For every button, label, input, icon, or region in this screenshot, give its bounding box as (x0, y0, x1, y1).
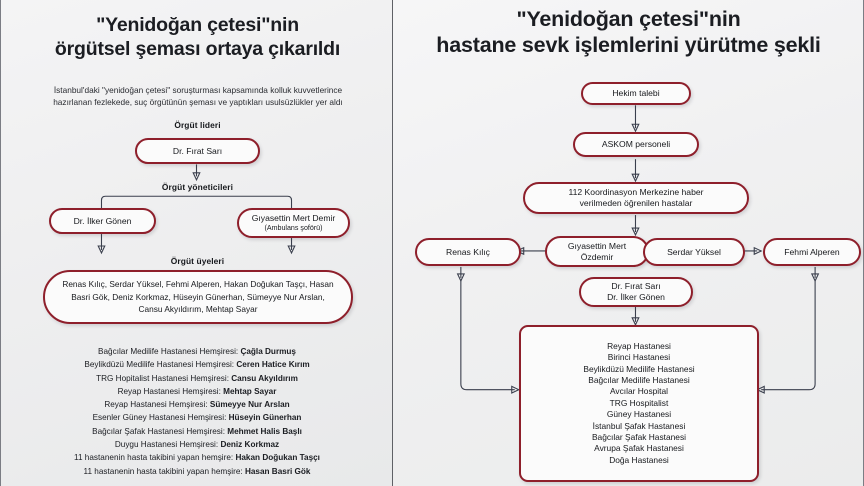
subtitle-left: İstanbul'daki "yenidoğan çetesi" soruştu… (35, 84, 361, 109)
infographic-root: "Yenidoğan çetesi"nin örgütsel şeması or… (0, 0, 864, 486)
nurse-list-item: Esenler Güney Hastanesi Hemşiresi: Hüsey… (17, 411, 377, 424)
wire-fehmi-to-hospitals (761, 281, 815, 390)
arrowhead-renas-down (458, 274, 465, 281)
arrowhead-fehmi (754, 248, 761, 255)
node-step-hekim-talebi: Hekim talebi (581, 82, 691, 105)
page-title-left: "Yenidoğan çetesi"nin örgütsel şeması or… (21, 14, 374, 62)
nurse-name: Ceren Hatice Kırım (236, 360, 309, 369)
node-step-askom: ASKOM personeli (573, 132, 699, 157)
node-org-members: Renas Kılıç, Serdar Yüksel, Fehmi Alpere… (43, 270, 353, 324)
nurse-list-item: TRG Hopitalist Hastanesi Hemşiresi: Cans… (17, 372, 377, 385)
title-right-line1: "Yenidoğan çetesi"nin (401, 6, 856, 32)
label-org-members: Örgüt üyeleri (144, 256, 251, 266)
nurse-role: Reyap Hastanesi Hemşiresi: (104, 400, 210, 409)
nurse-name: Hüseyin Günerhan (229, 413, 302, 422)
node-manager-2-name: Gıyasettin Mert Demir (252, 213, 336, 224)
hospital-list-item: Güney Hastanesi (583, 409, 694, 420)
node-row-3-line1: Fehmi Alperen (784, 247, 839, 258)
node-org-members-text: Renas Kılıç, Serdar Yüksel, Fehmi Alpere… (45, 278, 351, 315)
node-org-leader: Dr. Fırat Sarı (135, 138, 260, 164)
nurse-name: Mehmet Halis Başlı (227, 427, 302, 436)
node-step1-label: Hekim talebi (612, 88, 659, 99)
node-doctors-firat-ilker: Dr. Fırat Sarı Dr. İlker Gönen (579, 277, 693, 307)
nurse-role: TRG Hopitalist Hastanesi Hemşiresi: (96, 374, 231, 383)
node-row-2-line1: Serdar Yüksel (667, 247, 721, 258)
nurse-name: Çağla Durmuş (240, 347, 296, 356)
panel-org-chart: "Yenidoğan çetesi"nin örgütsel şeması or… (0, 0, 393, 486)
label-org-managers: Örgüt yöneticileri (144, 182, 251, 192)
node-row-1-line1: Gıyasettin Mert (568, 241, 626, 252)
node-person-giyasettin-mert-ozdemir: Gıyasettin Mert Özdemir (545, 236, 649, 267)
nurse-name: Cansu Akyıldırım (231, 374, 298, 383)
node-step2-label: ASKOM personeli (602, 139, 670, 150)
hospital-list-item: Doğa Hastanesi (583, 455, 694, 466)
nurse-list-item: Duygu Hastanesi Hemşiresi: Deniz Korkmaz (17, 438, 377, 451)
hospital-list-item: Birinci Hastanesi (583, 352, 694, 363)
node-row-0-line1: Renas Kılıç (446, 247, 490, 258)
title-left-line1: "Yenidoğan çetesi"nin (21, 14, 374, 38)
nurse-list-item: 11 hastanenin hasta takibini yapan hemşi… (17, 465, 377, 478)
arrowhead-mgr2 (288, 246, 295, 253)
nurse-role: Reyap Hastanesi Hemşiresi: (118, 387, 224, 396)
wire-renas-to-hospitals (461, 281, 515, 390)
nurse-list-item: Beylikdüzü Medilife Hastanesi Hemşiresi:… (17, 358, 377, 371)
node-manager-1-name: Dr. İlker Gönen (74, 216, 132, 227)
nurse-assignment-list: Bağcılar Medilife Hastanesi Hemşiresi: Ç… (17, 345, 377, 478)
node-step-112-koordinasyon: 112 Koordinasyon Merkezine haber verilme… (523, 182, 749, 214)
node-doctors-line1: Dr. Fırat Sarı (611, 281, 660, 292)
label-org-leader: Örgüt lideri (144, 120, 251, 130)
hospital-list-item: Avcılar Hospital (583, 386, 694, 397)
arrowhead-row (632, 228, 639, 235)
nurse-list-item: 11 hastanenin hasta takibini yapan hemşi… (17, 451, 377, 464)
hospital-list-item: Avrupa Şafak Hastanesi (583, 443, 694, 454)
nurse-name: Hasan Basri Gök (245, 467, 311, 476)
node-hospital-list: Reyap HastanesiBirinci HastanesiBeylikdü… (519, 325, 759, 482)
arrowhead-fehmi-down (812, 274, 819, 281)
page-title-right: "Yenidoğan çetesi"nin hastane sevk işlem… (401, 6, 856, 58)
nurse-name: Hakan Doğukan Taşçı (235, 453, 319, 462)
arrowhead-hosp-left (512, 386, 519, 393)
nurse-name: Sümeyye Nur Arslan (210, 400, 290, 409)
arrowhead-mgr1 (98, 246, 105, 253)
hospital-list-item: TRG Hospitalist (583, 398, 694, 409)
hospital-list-item: Beylikdüzü Medilife Hastanesi (583, 364, 694, 375)
nurse-role: 11 hastanenin hasta takibini yapan hemşi… (74, 453, 235, 462)
nurse-list-item: Reyap Hastanesi Hemşiresi: Mehtap Sayar (17, 385, 377, 398)
node-manager-1: Dr. İlker Gönen (49, 208, 156, 234)
node-manager-2: Gıyasettin Mert Demir (Ambulans şoförü) (237, 208, 350, 238)
panel-referral-flow: "Yenidoğan çetesi"nin hastane sevk işlem… (393, 0, 864, 486)
node-person-renas-kilic: Renas Kılıç (415, 238, 521, 266)
hospital-list-item: İstanbul Şafak Hastanesi (583, 421, 694, 432)
node-doctors-line2: Dr. İlker Gönen (607, 292, 665, 303)
title-left-line2: örgütsel şeması ortaya çıkarıldı (21, 38, 374, 62)
node-row-1-line2: Özdemir (581, 252, 613, 263)
nurse-name: Deniz Korkmaz (220, 440, 279, 449)
hospital-list-item: Bağcılar Medilife Hastanesi (583, 375, 694, 386)
node-org-leader-name: Dr. Fırat Sarı (173, 146, 222, 157)
arrowhead-step3 (632, 174, 639, 181)
nurse-role: Esenler Güney Hastanesi Hemşiresi: (93, 413, 229, 422)
node-person-serdar-yuksel: Serdar Yüksel (643, 238, 745, 266)
nurse-list-item: Bağcılar Şafak Hastanesi Hemşiresi: Mehm… (17, 425, 377, 438)
arrowhead-step2 (632, 124, 639, 131)
node-step3-line1: 112 Koordinasyon Merkezine haber (568, 187, 703, 198)
nurse-role: Duygu Hastanesi Hemşiresi: (115, 440, 221, 449)
hospital-list-item: Bağcılar Şafak Hastanesi (583, 432, 694, 443)
nurse-role: 11 hastanenin hasta takibini yapan hemşi… (84, 467, 245, 476)
nurse-list-item: Reyap Hastanesi Hemşiresi: Sümeyye Nur A… (17, 398, 377, 411)
node-step3-line2: verilmeden öğrenilen hastalar (580, 198, 693, 209)
nurse-role: Beylikdüzü Medilife Hastanesi Hemşiresi: (84, 360, 236, 369)
arrowhead-leader (193, 173, 200, 180)
hospital-list-item: Reyap Hastanesi (583, 341, 694, 352)
nurse-name: Mehtap Sayar (223, 387, 276, 396)
nurse-role: Bağcılar Medilife Hastanesi Hemşiresi: (98, 347, 240, 356)
arrowhead-hospitals (632, 318, 639, 325)
node-person-fehmi-alperen: Fehmi Alperen (763, 238, 861, 266)
hospital-list-text: Reyap HastanesiBirinci HastanesiBeylikdü… (583, 341, 694, 466)
nurse-role: Bağcılar Şafak Hastanesi Hemşiresi: (92, 427, 227, 436)
title-right-line2: hastane sevk işlemlerini yürütme şekli (401, 32, 856, 58)
nurse-list-item: Bağcılar Medilife Hastanesi Hemşiresi: Ç… (17, 345, 377, 358)
node-manager-2-sub: (Ambulans şoförü) (265, 224, 323, 233)
